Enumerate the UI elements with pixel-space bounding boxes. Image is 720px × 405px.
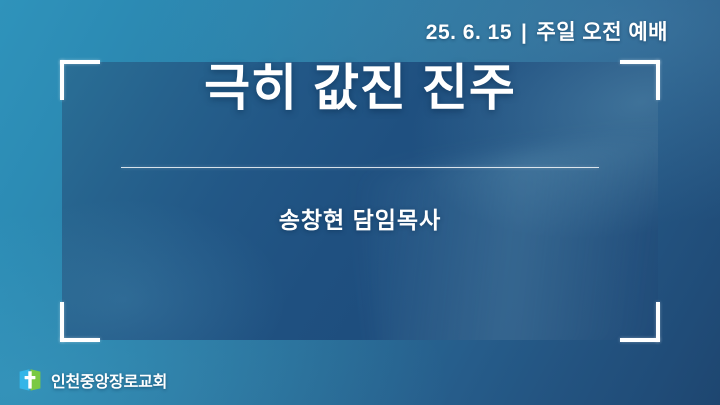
panel-content: 극히 값진 진주 송창현 담임목사: [0, 0, 720, 405]
sermon-title-slide: 25. 6. 15|주일 오전 예배 극히 값진 진주 송창현 담임목사 인천중…: [0, 0, 720, 405]
title-divider: [121, 167, 599, 168]
speaker-name: 송창현 담임목사: [279, 201, 442, 235]
sermon-title: 극히 값진 진주: [204, 62, 516, 115]
